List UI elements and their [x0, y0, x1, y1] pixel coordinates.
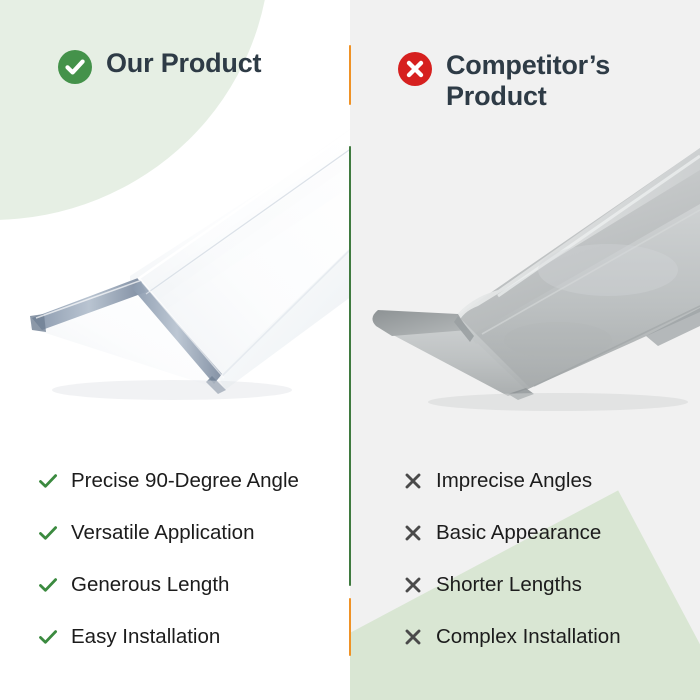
- list-item: Shorter Lengths: [403, 559, 693, 611]
- list-item: Complex Installation: [403, 611, 693, 663]
- competitor-product-header: Competitor’s Product: [398, 50, 610, 113]
- list-item: Imprecise Angles: [403, 455, 693, 507]
- x-icon: [403, 471, 423, 491]
- list-item: Versatile Application: [38, 507, 338, 559]
- x-icon: [403, 575, 423, 595]
- our-product-header: Our Product: [58, 48, 261, 84]
- competitor-product-panel: Competitor’s Product Imprecise Angles Ba…: [350, 0, 700, 700]
- list-item-label: Basic Appearance: [436, 523, 601, 544]
- our-product-panel: Our Product Precise 90-Degree Angle Vers…: [0, 0, 350, 700]
- our-product-feature-list: Precise 90-Degree Angle Versatile Applic…: [38, 455, 338, 663]
- list-item-label: Shorter Lengths: [436, 575, 582, 596]
- list-item: Precise 90-Degree Angle: [38, 455, 338, 507]
- x-icon: [403, 523, 423, 543]
- list-item-label: Easy Installation: [71, 627, 220, 648]
- list-item-label: Imprecise Angles: [436, 471, 592, 492]
- x-circle-icon: [398, 52, 432, 86]
- list-item-label: Versatile Application: [71, 523, 254, 544]
- list-item-label: Precise 90-Degree Angle: [71, 471, 299, 492]
- our-product-title: Our Product: [106, 48, 261, 79]
- competitor-feature-list: Imprecise Angles Basic Appearance Shorte…: [403, 455, 693, 663]
- list-item: Generous Length: [38, 559, 338, 611]
- list-item-label: Generous Length: [71, 575, 229, 596]
- competitor-product-image: [358, 130, 700, 422]
- check-icon: [38, 575, 58, 595]
- x-icon: [403, 627, 423, 647]
- check-circle-icon: [58, 50, 92, 84]
- list-item-label: Complex Installation: [436, 627, 621, 648]
- divider-segment-green: [349, 146, 351, 586]
- competitor-product-title: Competitor’s Product: [446, 50, 610, 113]
- check-icon: [38, 523, 58, 543]
- comparison-infographic: Our Product Precise 90-Degree Angle Vers…: [0, 0, 700, 700]
- divider-segment-orange-top: [349, 45, 351, 105]
- divider-segment-orange-bottom: [349, 598, 351, 656]
- our-product-image: [22, 128, 350, 418]
- list-item: Easy Installation: [38, 611, 338, 663]
- check-icon: [38, 627, 58, 647]
- check-icon: [38, 471, 58, 491]
- center-divider: [349, 0, 351, 700]
- list-item: Basic Appearance: [403, 507, 693, 559]
